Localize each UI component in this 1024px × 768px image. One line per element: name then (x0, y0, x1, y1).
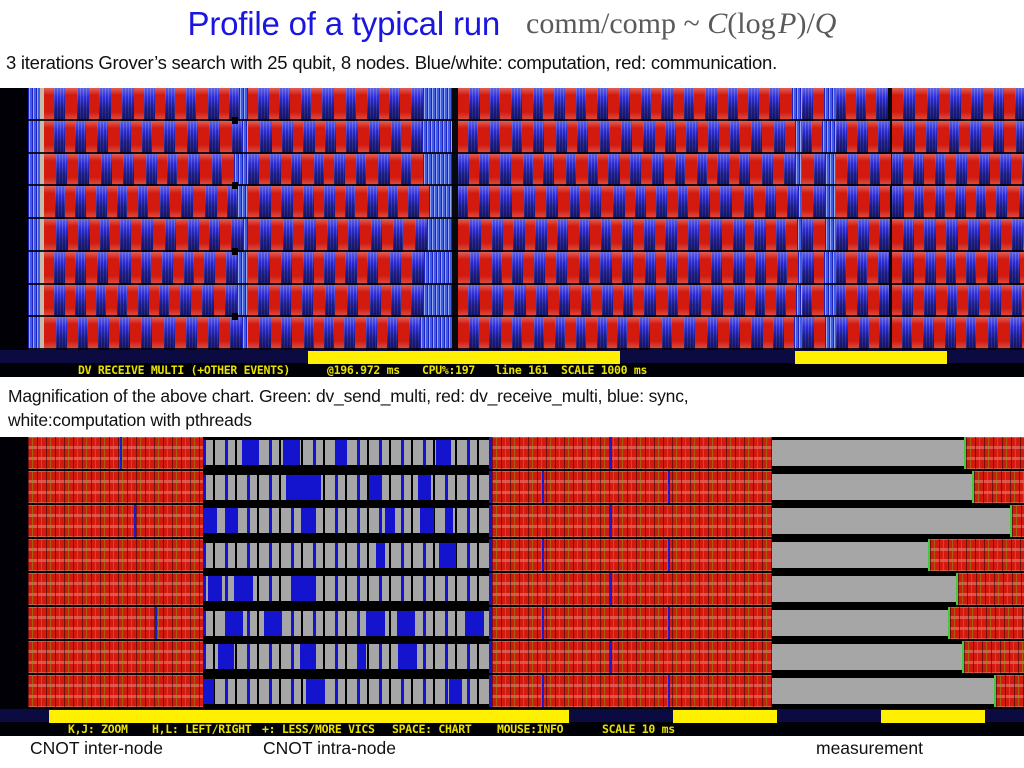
overview-event-band (480, 252, 492, 285)
overview-event-band (976, 252, 987, 285)
overview-event-marker (232, 117, 238, 124)
overview-event-band (75, 285, 86, 317)
overview-event-band (1012, 219, 1023, 252)
overview-rows: 0001020304050607 (0, 88, 1024, 350)
slide-root: Profile of a typical run comm/comp ~ C(l… (0, 0, 1024, 768)
magnified-row-gap-top (203, 505, 492, 508)
overview-status-scale: SCALE 1000 ms (561, 363, 647, 377)
magnified-segment-dv-receive-multi-2 (492, 573, 772, 607)
overview-event-marker (232, 313, 238, 320)
overview-event-band (554, 154, 566, 186)
formula-paren-open: ( (727, 7, 737, 40)
overview-event-band (423, 88, 453, 121)
magnified-segment-dv-receive-multi (28, 641, 203, 675)
magnified-segment-dv-receive-multi-2 (492, 437, 772, 471)
overview-event-band (412, 252, 424, 285)
caption-line-1: Magnification of the above chart. Green:… (8, 384, 1020, 408)
phase-label: CNOT inter-node (30, 738, 163, 759)
magnified-segment-tail-comm (950, 607, 1024, 641)
overview-event-band (644, 285, 656, 317)
overview-event-band (1020, 252, 1024, 285)
overview-event-band (427, 219, 453, 252)
overview-status-bar[interactable]: DV RECEIVE MULTI (+OTHER EVENTS) @196.97… (0, 350, 1024, 377)
overview-event-band (762, 121, 774, 154)
overview-event-marker (232, 248, 238, 255)
magnified-sync-line (542, 607, 544, 641)
magnified-segment-tail-comm (996, 675, 1024, 709)
slide-header: Profile of a typical run comm/comp ~ C(l… (0, 2, 1024, 46)
formula-symbol-q: Q (815, 7, 837, 40)
overview-event-band (302, 154, 314, 186)
overview-event-band (180, 285, 191, 317)
magnified-segment-dv-receive-multi-2 (492, 505, 772, 539)
magnified-segment-dv-receive-multi-2 (492, 471, 772, 505)
magnified-segment-tail-comm (930, 539, 1024, 573)
magnified-row[interactable] (28, 641, 1024, 675)
magnified-sync-line (542, 675, 544, 709)
overview-row[interactable] (28, 186, 1024, 219)
magnified-sync-line (610, 437, 612, 471)
overview-event-band (424, 252, 454, 285)
overview-event-band (259, 317, 271, 350)
magnified-segment-measurement (772, 471, 972, 505)
magnified-segment-dv-receive-multi (28, 675, 203, 709)
magnified-sync-line (120, 437, 122, 471)
magnified-status-text: K,J: ZOOM H,L: LEFT/RIGHT +: LESS/MORE V… (0, 722, 1024, 736)
overview-event-band (302, 285, 313, 317)
overview-event-band (1016, 121, 1024, 154)
overview-event-band (122, 88, 134, 121)
overview-row[interactable] (28, 88, 1024, 121)
magnified-row-gap-top (772, 641, 962, 644)
formula-slash: / (806, 7, 814, 40)
magnified-segment-measurement (772, 539, 928, 573)
magnified-sync-line (668, 675, 670, 709)
magnified-row[interactable] (28, 505, 1024, 539)
magnified-segment-tail-comm (958, 573, 1024, 607)
magnified-row-gap-top (772, 573, 956, 576)
overview-row[interactable] (28, 252, 1024, 285)
magnified-rows: 0001020304050607 (0, 437, 1024, 709)
magnified-segment-measurement (772, 675, 994, 709)
magnified-timeline-chart[interactable]: 0001020304050607 (0, 437, 1024, 709)
shortcut-leftright: H,L: LEFT/RIGHT (152, 722, 251, 736)
magnified-row[interactable] (28, 675, 1024, 709)
overview-event-band (720, 186, 732, 219)
complexity-formula: comm/comp ~ C(log P)/Q (526, 7, 836, 41)
overview-event-band (733, 252, 745, 285)
overview-event-band (469, 88, 480, 121)
magnified-sync-line (134, 505, 136, 539)
magnified-sync-line (610, 641, 612, 675)
overview-event-band (422, 121, 453, 154)
magnified-segment-dv-receive-multi-2 (492, 539, 772, 573)
formula-lhs: comm/comp ~ (526, 7, 700, 40)
overview-row[interactable] (28, 121, 1024, 154)
magnified-segment-measurement (772, 607, 948, 641)
overview-row-label-column (0, 88, 28, 350)
magnified-sync-line (155, 607, 157, 641)
shortcut-vics: +: LESS/MORE VICS (262, 722, 375, 736)
magnified-row[interactable] (28, 607, 1024, 641)
magnified-segment-measurement (772, 573, 956, 607)
magnified-row[interactable] (28, 471, 1024, 505)
overview-event-band (209, 219, 220, 252)
overview-event-band (127, 186, 138, 219)
overview-event-band (173, 252, 184, 285)
magnified-segment-measurement (772, 641, 962, 675)
magnified-row-gap-top (772, 437, 964, 440)
overview-event-band (645, 252, 656, 285)
magnified-segment-compute-sync (203, 573, 492, 607)
magnified-row[interactable] (28, 573, 1024, 607)
overview-event-band (420, 317, 453, 350)
overview-event-band (822, 121, 837, 154)
overview-event-band (208, 317, 219, 350)
magnified-row-gap-top (203, 471, 492, 475)
magnified-sync-line (610, 505, 612, 539)
magnified-row-gap-top (203, 437, 492, 440)
magnified-segment-tail-comm (966, 437, 1024, 471)
overview-event-band (325, 121, 336, 154)
shortcut-mouse: MOUSE:INFO (497, 722, 563, 736)
overview-row[interactable] (28, 285, 1024, 317)
magnified-sync-line (542, 539, 544, 573)
overview-event-marker (232, 182, 238, 189)
magnified-sync-line (668, 471, 670, 505)
overview-row[interactable] (28, 317, 1024, 350)
magnified-row-gap-top (772, 675, 994, 678)
overview-event-band (586, 88, 597, 121)
overview-event-band (1015, 88, 1024, 121)
magnified-segment-dv-receive-multi-2 (492, 675, 772, 709)
magnified-segment-measurement (772, 505, 1010, 539)
magnified-segment-tail-comm (964, 641, 1024, 675)
magnified-segment-compute-sync (203, 539, 492, 573)
magnified-segment-dv-receive-multi-2 (492, 641, 772, 675)
magnified-segment-measurement (772, 437, 964, 471)
overview-event-band (164, 317, 175, 350)
magnified-segment-dv-receive-multi (28, 437, 203, 471)
overview-event-band (378, 252, 390, 285)
caption-line-2: white:computation with pthreads (8, 408, 1020, 432)
magnified-row-gap-top (203, 539, 492, 543)
magnified-sync-line (542, 471, 544, 505)
magnified-sync-line (610, 573, 612, 607)
magnified-segment-dv-receive-multi-2 (492, 607, 772, 641)
magnified-row-gap-top (772, 607, 948, 610)
overview-event-band (688, 186, 699, 219)
overview-status-cpu: CPU%:197 (422, 363, 475, 377)
magnified-segment-compute-sync (203, 675, 492, 709)
formula-symbol-p: P (778, 7, 796, 40)
overview-event-band (258, 88, 269, 121)
magnified-row-gap-top (203, 641, 492, 644)
overview-event-band (937, 121, 949, 154)
overview-row[interactable] (28, 154, 1024, 186)
magnified-segment-compute-sync (203, 607, 492, 641)
magnified-segment-compute-sync (203, 437, 492, 471)
magnification-caption: Magnification of the above chart. Green:… (8, 384, 1020, 432)
magnified-segment-dv-receive-multi (28, 573, 203, 607)
overview-event-band (536, 285, 548, 317)
magnified-row-gap-top (772, 505, 1010, 508)
subtitle-text: 3 iterations Grover’s search with 25 qub… (6, 52, 1020, 74)
overview-event-band (75, 121, 86, 154)
magnified-status-scale: SCALE 10 ms (602, 722, 675, 736)
magnified-segment-compute-sync (203, 641, 492, 675)
overview-status-time: @196.972 ms (327, 363, 400, 377)
magnified-row-label-column (0, 437, 28, 709)
formula-log: log (737, 7, 775, 40)
overview-event-band (423, 154, 453, 186)
magnified-segment-dv-receive-multi (28, 607, 203, 641)
shortcut-zoom: K,J: ZOOM (68, 722, 128, 736)
overview-event-band (303, 186, 314, 219)
formula-paren-close: ) (796, 7, 806, 40)
magnified-segment-compute-sync (203, 505, 492, 539)
magnified-segment-dv-receive-multi (28, 539, 203, 573)
overview-event-band (846, 285, 857, 317)
magnified-row-gap-top (203, 573, 492, 576)
overview-status-event: DV RECEIVE MULTI (+OTHER EVENTS) (78, 363, 290, 377)
overview-event-band (489, 317, 501, 350)
overview-status-text: DV RECEIVE MULTI (+OTHER EVENTS) @196.97… (0, 363, 1024, 377)
magnified-row-gap-top (772, 539, 928, 542)
magnified-status-bar[interactable]: K,J: ZOOM H,L: LEFT/RIGHT +: LESS/MORE V… (0, 709, 1024, 736)
overview-event-band (661, 88, 673, 121)
overview-status-line: line 161 (495, 363, 548, 377)
formula-symbol-c: C (707, 7, 727, 40)
magnified-sync-line (668, 607, 670, 641)
overview-event-band (686, 121, 698, 154)
overview-event-band (423, 285, 453, 317)
overview-event-band (924, 219, 936, 252)
overview-event-band (1019, 186, 1024, 219)
overview-event-band (857, 121, 868, 154)
magnified-segment-tail-comm (1012, 505, 1024, 539)
magnified-segment-dv-receive-multi (28, 505, 203, 539)
page-title: Profile of a typical run (188, 5, 501, 43)
overview-event-band (1004, 88, 1015, 121)
overview-event-band (858, 186, 869, 219)
magnified-segment-compute-sync (203, 471, 492, 505)
magnified-row-gap-top (772, 471, 972, 474)
shortcut-chart: SPACE: CHART (392, 722, 471, 736)
overview-event-band (429, 186, 453, 219)
magnified-segment-tail-comm (974, 471, 1024, 505)
phase-label-row: CNOT inter-nodeCNOT intra-nodemeasuremen… (0, 736, 1024, 766)
magnified-row[interactable] (28, 437, 1024, 471)
overview-event-band (492, 219, 503, 252)
magnified-row-gap-top (203, 675, 492, 679)
phase-label: CNOT intra-node (263, 738, 396, 759)
overview-row[interactable] (28, 219, 1024, 252)
phase-label: measurement (816, 738, 923, 759)
overview-timeline-chart[interactable]: 0001020304050607 (0, 88, 1024, 350)
magnified-row-gap-top (203, 607, 492, 611)
magnified-sync-line (668, 539, 670, 573)
magnified-segment-dv-receive-multi (28, 471, 203, 505)
overview-event-band (152, 121, 164, 154)
magnified-row[interactable] (28, 539, 1024, 573)
